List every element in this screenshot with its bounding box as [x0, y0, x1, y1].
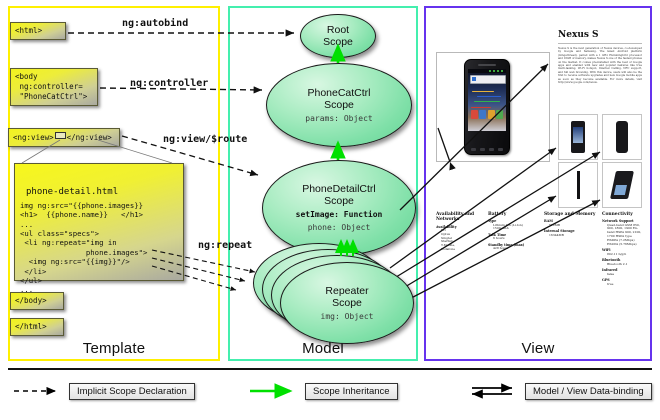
spec-header: Storage and Memory [544, 212, 596, 217]
spec-value: 802.11 b/g/n [607, 253, 646, 257]
legend-double-arrow-icon [468, 383, 520, 399]
title-divider [558, 43, 642, 44]
thumbnail-3[interactable] [558, 162, 598, 208]
panel-label-model: Model [230, 340, 416, 357]
code-block-html-open: <html> [10, 22, 66, 40]
code-block-html-close: </html> [10, 318, 64, 336]
spec-value: 1500 mAh [493, 227, 536, 231]
spec-value: Vodafone [441, 248, 480, 252]
code-block-body-open: <body ng:controller= "PhoneCatCtrl"> [10, 68, 98, 106]
scope-phonedetailctrl: PhoneDetailCtrl Scope setImage: Function… [262, 160, 416, 256]
scope-repeater-prop-img: img: Object [321, 312, 374, 322]
phone-speaker [478, 64, 496, 66]
legend-item-scope-inheritance: Scope Inheritance [248, 382, 398, 400]
thumbnail-4[interactable] [602, 162, 642, 208]
phone-hero-image-frame [436, 52, 550, 162]
thumbnail-1[interactable] [558, 114, 598, 160]
phone-status-bar [468, 69, 506, 73]
spec-column-connectivity: ConnectivityNetwork SupportQuad-band GSM… [602, 212, 646, 286]
product-title: Nexus S [558, 30, 599, 40]
phone-search-widget [470, 75, 506, 84]
spec-header: Battery [488, 212, 536, 217]
spec-value: 428 hours [493, 247, 536, 251]
scope-phonecatctrl-line2: Scope [324, 99, 354, 111]
ngview-close-tag: </ng:view> [67, 133, 112, 142]
product-description: Nexus S is the next generation of Nexus … [558, 47, 642, 109]
spec-value: HSUPA (5.76Mbps) [607, 243, 646, 247]
legend-divider [8, 368, 652, 370]
spec-value: Bluetooth 2.1 [607, 263, 646, 267]
spec-column-storage: Storage and MemoryRAM512MBInternal Stora… [544, 212, 596, 237]
edge-label-autobind: ng:autobind [122, 18, 188, 29]
phone-detail-code: img ng:src="{{phone.images}} <h1> {{phon… [20, 201, 147, 295]
scope-root: Root Scope [300, 14, 376, 58]
legend-green-arrow-icon [248, 383, 300, 399]
code-block-body-close: </body> [10, 292, 64, 310]
scope-phonedetailctrl-prop-setimage: setImage: Function [296, 210, 383, 220]
spec-value: true [607, 283, 646, 287]
scope-phonedetailctrl-line1: PhoneDetailCtrl [302, 183, 376, 195]
spec-value: 512MB [549, 224, 596, 228]
view-content: Nexus S Nexus S is the next generation o… [430, 14, 646, 346]
scope-root-line2: Scope [323, 36, 353, 48]
scope-repeater-line1: Repeater [325, 285, 368, 297]
legend-item-implicit-scope: Implicit Scope Declaration [12, 382, 195, 400]
phone-detail-filename: phone-detail.html [26, 186, 178, 199]
legend-item-data-binding: Model / View Data-binding [468, 382, 652, 400]
nexus-s-phone-illustration [464, 59, 510, 155]
spec-header: Availability and Networks [436, 212, 480, 223]
phone-app-icons [469, 110, 505, 121]
ngview-placeholder-rect [55, 132, 66, 139]
panel-label-template: Template [10, 340, 218, 357]
scope-root-line1: Root [327, 24, 349, 36]
spec-column-availability: Availability and NetworksAvailabilityM1O… [436, 212, 480, 252]
spec-value: false [607, 273, 646, 277]
edge-label-controller: ng:controller [130, 78, 208, 89]
thumbnail-2[interactable] [602, 114, 642, 160]
scope-phonecatctrl: PhoneCatCtrl Scope params: Object [266, 63, 412, 147]
scope-phonedetailctrl-prop-phone: phone: Object [308, 223, 371, 233]
edge-label-view-route: ng:view/$route [163, 134, 247, 145]
legend-label-implicit-scope: Implicit Scope Declaration [69, 383, 195, 400]
spec-table: Availability and NetworksAvailabilityM1O… [432, 212, 644, 332]
spec-header: Connectivity [602, 212, 646, 217]
code-block-ngview: <ng:view></ng:view> [8, 128, 120, 147]
code-block-phone-detail: phone-detail.htmlimg ng:src="{{phone.ima… [14, 163, 184, 281]
phone-soft-buttons [469, 146, 505, 152]
scope-phonecatctrl-prop-params: params: Object [305, 114, 372, 124]
scope-phonecatctrl-line1: PhoneCatCtrl [307, 87, 370, 99]
spec-value: 16344MB [549, 234, 596, 238]
ngview-open-tag: <ng:view> [13, 133, 54, 142]
spec-column-battery: BatteryTypeLithium Ion (Li-Ion)1500 mAhT… [488, 212, 536, 251]
scope-phonedetailctrl-line2: Scope [324, 195, 354, 207]
spec-value: 6 hours [493, 237, 536, 241]
scope-repeater-line2: Scope [332, 297, 362, 309]
legend-dashed-arrow-icon [12, 383, 64, 399]
legend-label-scope-inheritance: Scope Inheritance [305, 383, 398, 400]
legend-label-data-binding: Model / View Data-binding [525, 383, 652, 400]
phone-screen [468, 69, 506, 131]
edge-label-repeat: ng:repeat [198, 240, 252, 251]
scope-repeater: Repeater Scope img: Object [280, 262, 414, 344]
